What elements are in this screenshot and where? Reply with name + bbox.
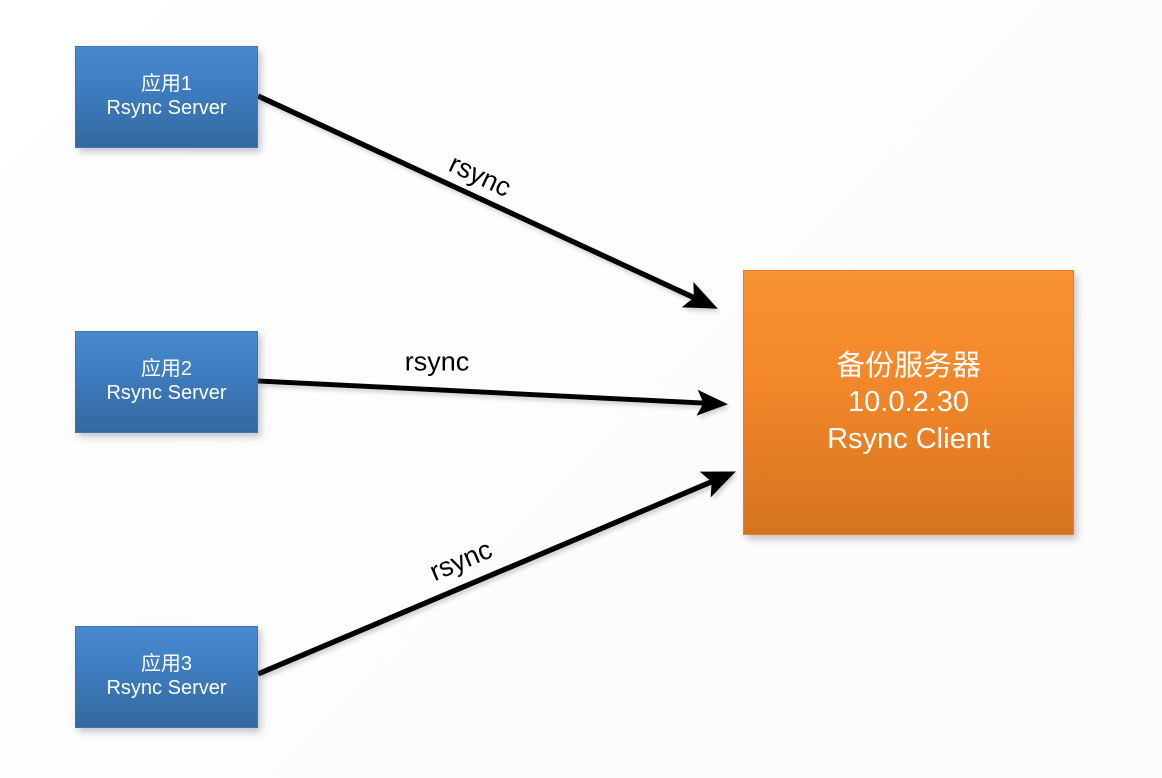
rsync-arrow-app1-to-backup — [258, 96, 712, 306]
backup-server-node-line-3: Rsync Client — [827, 422, 990, 456]
app3-node-line-2: Rsync Server — [106, 677, 226, 701]
app1-node-line-1: 应用1 — [141, 73, 192, 97]
backup-server-node-line-1: 备份服务器 — [836, 349, 981, 383]
app2-node[interactable]: 应用2 Rsync Server — [75, 331, 258, 433]
backup-server-node-line-2: 10.0.2.30 — [848, 385, 969, 419]
rsync-arrow-app3-to-backup — [258, 474, 730, 674]
rsync-label-app2: rsync — [405, 347, 470, 378]
rsync-arrow-app2-to-backup — [258, 381, 722, 404]
rsync-label-app1: rsync — [444, 148, 516, 203]
app1-node-line-2: Rsync Server — [106, 97, 226, 121]
diagram-canvas: 应用1 Rsync Server 应用2 Rsync Server 应用3 Rs… — [0, 0, 1162, 778]
app3-node-line-1: 应用3 — [141, 653, 192, 677]
app2-node-line-2: Rsync Server — [106, 382, 226, 406]
app3-node[interactable]: 应用3 Rsync Server — [75, 626, 258, 728]
rsync-label-app3: rsync — [425, 534, 496, 588]
backup-server-node[interactable]: 备份服务器 10.0.2.30 Rsync Client — [743, 270, 1074, 535]
app2-node-line-1: 应用2 — [141, 358, 192, 382]
app1-node[interactable]: 应用1 Rsync Server — [75, 46, 258, 148]
